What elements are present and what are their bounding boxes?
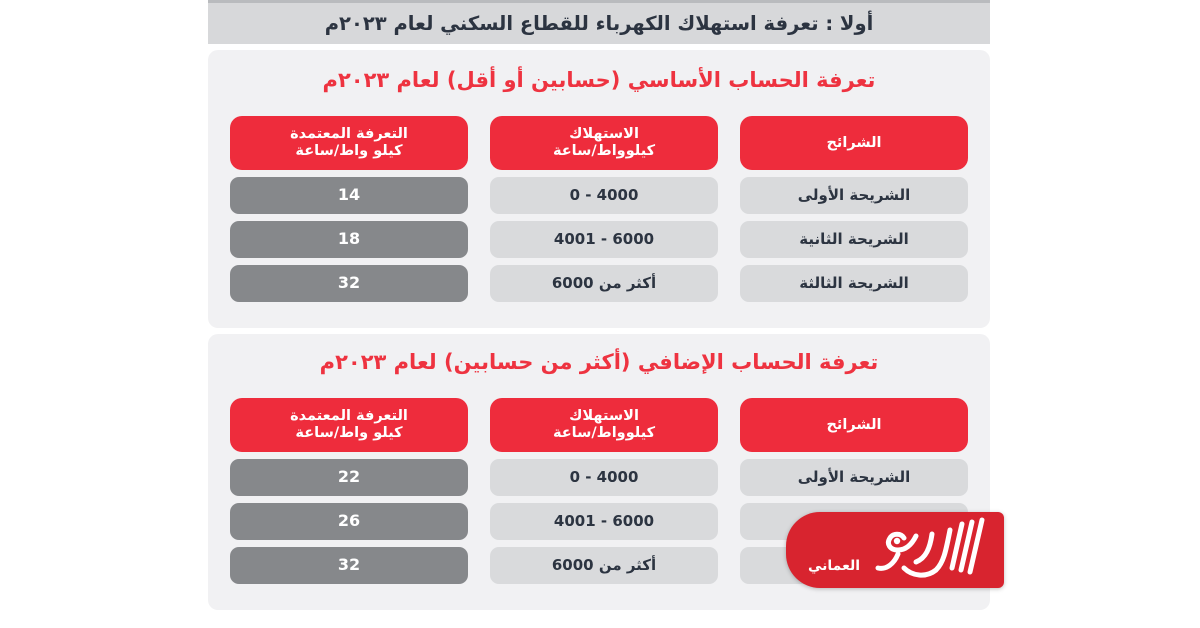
table-header-row: الشرائح الاستهلاك كيلوواط/ساعة التعرفة ا…	[230, 116, 968, 170]
column-header-consumption: الاستهلاك كيلوواط/ساعة	[490, 398, 718, 452]
cell-consumption-text: 4001 - 6000	[554, 513, 654, 530]
cell-consumption-text: 4001 - 6000	[554, 231, 654, 248]
column-header-consumption-line2: كيلوواط/ساعة	[553, 143, 655, 160]
column-header-tariff: التعرفة المعتمدة كيلو واط/ساعة	[230, 116, 468, 170]
column-header-tariff-line1: التعرفة المعتمدة	[290, 126, 408, 142]
cell-bracket: الشريحة الأولى	[740, 177, 968, 214]
cell-bracket: الشريحة الأولى	[740, 459, 968, 496]
logo-subtitle: العماني	[808, 558, 860, 574]
column-header-tariff-line2: كيلو واط/ساعة	[290, 143, 408, 160]
cell-tariff-text: 26	[338, 512, 360, 530]
page-title: أولا : تعرفة استهلاك الكهرباء للقطاع الس…	[325, 14, 874, 34]
table-row: الشريحة الثالثة أكثر من 6000 32	[230, 265, 968, 302]
cell-consumption: 4001 - 6000	[490, 503, 718, 540]
cell-consumption: 0 - 4000	[490, 177, 718, 214]
cell-consumption: 4001 - 6000	[490, 221, 718, 258]
cell-tariff: 26	[230, 503, 468, 540]
page-title-bar: أولا : تعرفة استهلاك الكهرباء للقطاع الس…	[208, 0, 990, 44]
cell-consumption-text: 0 - 4000	[570, 469, 639, 486]
column-header-bracket: الشرائح	[740, 398, 968, 452]
cell-tariff: 22	[230, 459, 468, 496]
cell-tariff: 32	[230, 265, 468, 302]
cell-tariff: 18	[230, 221, 468, 258]
cell-consumption-text: 0 - 4000	[570, 187, 639, 204]
column-header-tariff: التعرفة المعتمدة كيلو واط/ساعة	[230, 398, 468, 452]
column-header-bracket-label: الشرائح	[826, 417, 881, 434]
cell-bracket-text: الشريحة الثالثة	[799, 275, 909, 292]
cell-bracket-text: الشريحة الثانية	[799, 231, 909, 248]
section-basic-account: تعرفة الحساب الأساسي (حسابين أو أقل) لعا…	[208, 50, 990, 328]
table-row: الشريحة الأولى 0 - 4000 14	[230, 177, 968, 214]
cell-bracket: الشريحة الثالثة	[740, 265, 968, 302]
watermark-logo-badge: العماني	[786, 512, 1004, 588]
column-header-bracket: الشرائح	[740, 116, 968, 170]
column-header-bracket-label: الشرائح	[826, 135, 881, 152]
cell-tariff: 14	[230, 177, 468, 214]
cell-consumption: أكثر من 6000	[490, 547, 718, 584]
cell-tariff-text: 22	[338, 468, 360, 486]
cell-tariff-text: 18	[338, 230, 360, 248]
section-additional-heading: تعرفة الحساب الإضافي (أكثر من حسابين) لع…	[208, 352, 990, 373]
infographic-root: أولا : تعرفة استهلاك الكهرباء للقطاع الس…	[0, 0, 1200, 628]
cell-tariff-text: 32	[338, 556, 360, 574]
tariff-table-basic: الشرائح الاستهلاك كيلوواط/ساعة التعرفة ا…	[230, 116, 968, 302]
column-header-tariff-line1: التعرفة المعتمدة	[290, 408, 408, 424]
section-basic-heading: تعرفة الحساب الأساسي (حسابين أو أقل) لعا…	[208, 70, 990, 91]
cell-bracket: الشريحة الثانية	[740, 221, 968, 258]
table-row: الشريحة الثانية 4001 - 6000 18	[230, 221, 968, 258]
cell-consumption-text: أكثر من 6000	[552, 275, 656, 292]
table-header-row: الشرائح الاستهلاك كيلوواط/ساعة التعرفة ا…	[230, 398, 968, 452]
table-row: الشريحة الأولى 0 - 4000 22	[230, 459, 968, 496]
column-header-tariff-line2: كيلو واط/ساعة	[290, 425, 408, 442]
cell-tariff-text: 14	[338, 186, 360, 204]
column-header-consumption-line1: الاستهلاك	[569, 126, 639, 142]
cell-tariff: 32	[230, 547, 468, 584]
column-header-consumption-line2: كيلوواط/ساعة	[553, 425, 655, 442]
column-header-consumption-line1: الاستهلاك	[569, 408, 639, 424]
column-header-consumption: الاستهلاك كيلوواط/ساعة	[490, 116, 718, 170]
al-marja-logo-icon	[854, 514, 994, 586]
cell-bracket-text: الشريحة الأولى	[798, 469, 911, 486]
cell-consumption-text: أكثر من 6000	[552, 557, 656, 574]
cell-bracket-text: الشريحة الأولى	[798, 187, 911, 204]
cell-consumption: أكثر من 6000	[490, 265, 718, 302]
cell-tariff-text: 32	[338, 274, 360, 292]
cell-consumption: 0 - 4000	[490, 459, 718, 496]
